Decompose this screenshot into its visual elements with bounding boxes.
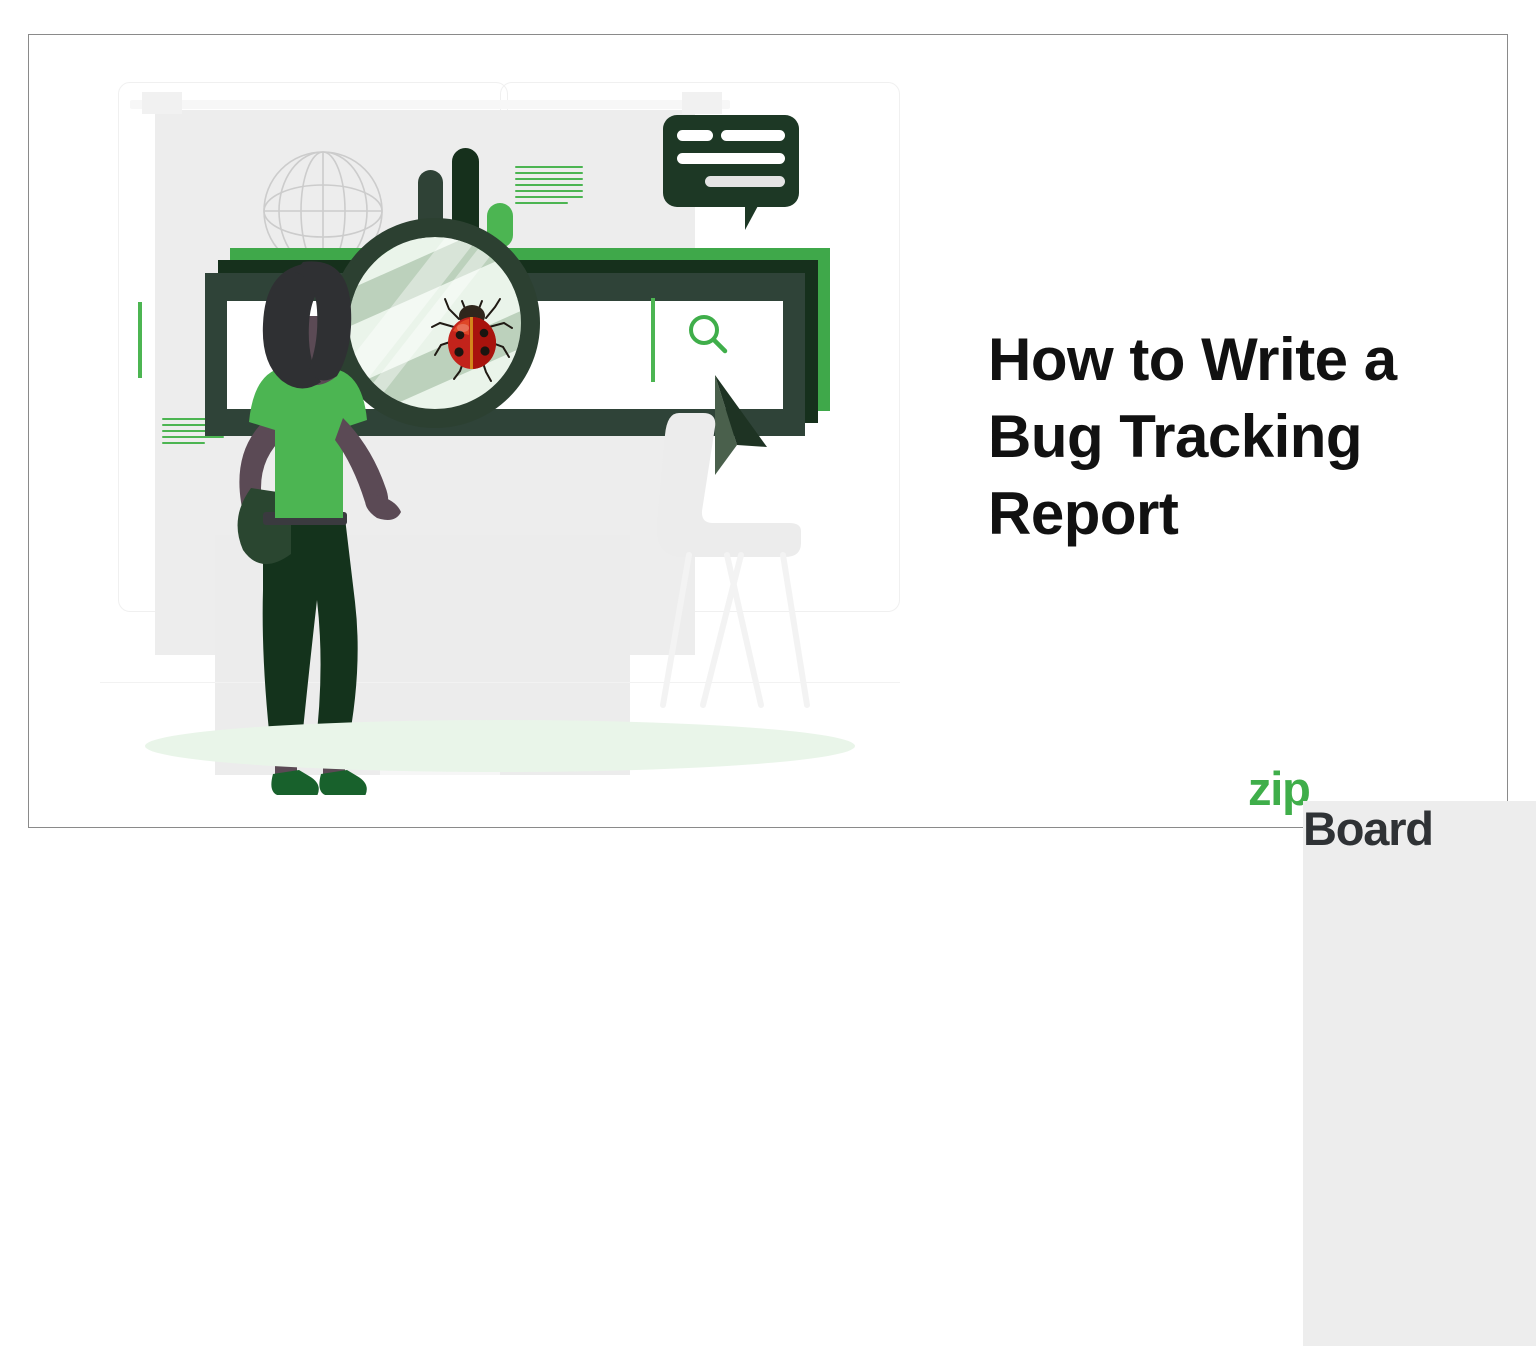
slide-canvas: How to Write a Bug Tracking Report zipBo…: [0, 0, 1536, 864]
page-title-line-3: Report: [988, 476, 1488, 553]
text-lines-top: [515, 166, 583, 208]
ground-shadow: [145, 720, 855, 772]
search-bar-divider: [651, 298, 655, 382]
search-input-caret: [138, 302, 142, 378]
person-figure: [205, 250, 435, 795]
search-icon[interactable]: [685, 312, 731, 358]
page-title: How to Write a Bug Tracking Report: [988, 322, 1488, 552]
logo-text-board: Board: [1303, 801, 1536, 1346]
chat-bubble-line-1: [677, 130, 713, 141]
page-title-line-2: Bug Tracking: [988, 399, 1488, 476]
chat-bubble: [663, 115, 799, 207]
whiteboard-rail: [130, 100, 730, 109]
chat-bubble-tail: [745, 204, 759, 230]
bug-search-illustration: [100, 70, 900, 770]
page-title-line-1: How to Write a: [988, 322, 1488, 399]
chat-bubble-line-2: [721, 130, 785, 141]
whiteboard-clip-right: [682, 92, 722, 114]
chat-bubble-line-4: [705, 176, 785, 187]
zipboard-logo: zipBoard: [1248, 761, 1310, 816]
whiteboard-clip-left: [142, 92, 182, 114]
logo-text-zip: zip: [1248, 762, 1310, 815]
chat-bubble-line-3: [677, 153, 785, 164]
chair: [655, 405, 875, 735]
